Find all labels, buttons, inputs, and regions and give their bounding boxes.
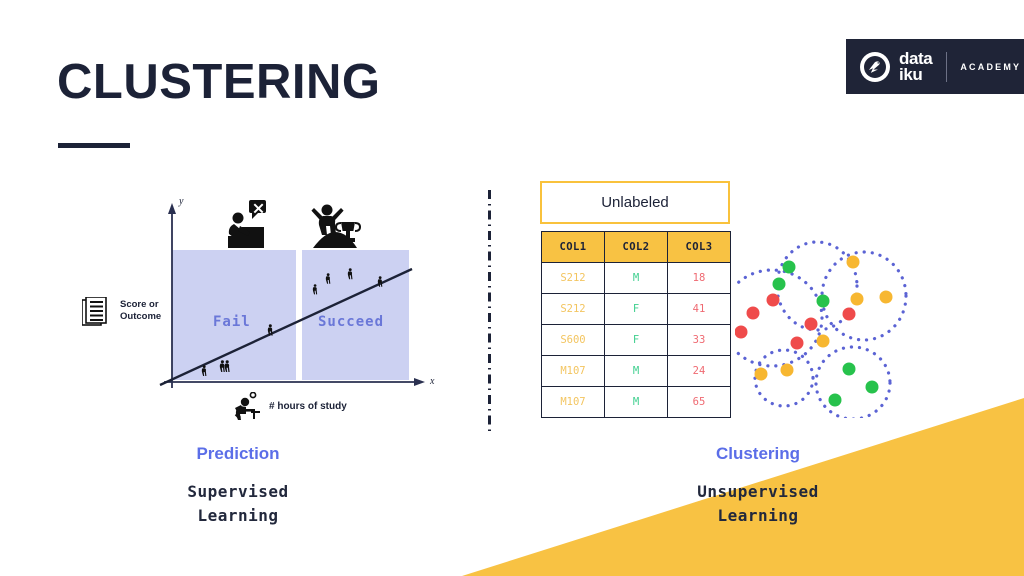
- logo-divider: [946, 52, 947, 82]
- hours-of-study-caption: # hours of study: [269, 401, 347, 412]
- column-header-col3: COL3: [668, 232, 731, 263]
- table-row: S212 M 18: [542, 263, 731, 294]
- cell-col1: M107: [542, 356, 605, 387]
- score-document-icon: [82, 297, 108, 332]
- discouraged-person-on-steps-icon: [228, 200, 266, 248]
- column-header-col2: COL2: [605, 232, 668, 263]
- cluster-point-green: [829, 394, 842, 407]
- cluster-point-green: [866, 381, 879, 394]
- table-header-row: COL1 COL2 COL3: [542, 232, 731, 263]
- cell-col2: M: [605, 387, 668, 418]
- cluster-outline: [816, 347, 890, 418]
- cell-col2: F: [605, 325, 668, 356]
- cell-col1: S212: [542, 294, 605, 325]
- x-axis-label: x: [430, 376, 434, 387]
- cell-col3: 24: [668, 356, 731, 387]
- cluster-point-yellow: [781, 364, 794, 377]
- cluster-point-red: [843, 308, 856, 321]
- unsupervised-line1: Unsupervised: [638, 480, 878, 504]
- cell-col3: 18: [668, 263, 731, 294]
- logo-academy-label: ACADEMY: [960, 62, 1021, 72]
- victorious-person-with-trophy-icon: [311, 205, 360, 249]
- unlabeled-data-table: COL1 COL2 COL3 S212 M 18 S212 F 41 S600 …: [541, 231, 731, 418]
- logo-brand-line2: iku: [899, 67, 932, 83]
- unlabeled-label: Unlabeled: [601, 194, 669, 211]
- cluster-point-red: [767, 294, 780, 307]
- cluster-point-green: [773, 278, 786, 291]
- supervised-line1: Supervised: [118, 480, 358, 504]
- cluster-point-yellow: [847, 256, 860, 269]
- title-underline-rule: [58, 143, 130, 148]
- supervised-learning-caption: Supervised Learning: [118, 480, 358, 528]
- score-caption-line2: Outcome: [120, 311, 161, 323]
- prediction-caption: Prediction: [138, 444, 338, 464]
- cell-col1: M107: [542, 387, 605, 418]
- cluster-point-red: [735, 326, 748, 339]
- cluster-point-red: [747, 307, 760, 320]
- cluster-point-red: [791, 337, 804, 350]
- cluster-point-green: [783, 261, 796, 274]
- section-divider: [488, 190, 491, 433]
- table-row: M107 M 24: [542, 356, 731, 387]
- unsupervised-line2: Learning: [638, 504, 878, 528]
- cluster-point-yellow: [880, 291, 893, 304]
- cell-col2: F: [605, 294, 668, 325]
- cluster-scatter-plot: [735, 228, 955, 413]
- cell-col1: S600: [542, 325, 605, 356]
- cell-col3: 41: [668, 294, 731, 325]
- dataiku-academy-logo: data iku ACADEMY: [846, 39, 1024, 94]
- slide-canvas: CLUSTERING data iku ACADEMY Fail Succeed: [0, 0, 1024, 576]
- studying-person-icon: [228, 392, 264, 425]
- dataiku-bird-icon: [860, 52, 890, 82]
- unlabeled-banner: Unlabeled: [540, 181, 730, 224]
- cluster-point-yellow: [755, 368, 768, 381]
- cell-col2: M: [605, 263, 668, 294]
- clustering-caption: Clustering: [658, 444, 858, 464]
- table-row: S212 F 41: [542, 294, 731, 325]
- cluster-point-yellow: [851, 293, 864, 306]
- cluster-point-yellow: [817, 335, 830, 348]
- score-caption-line1: Score or: [120, 299, 161, 311]
- unsupervised-learning-caption: Unsupervised Learning: [638, 480, 878, 528]
- cluster-point-green: [843, 363, 856, 376]
- y-axis-label: y: [179, 196, 183, 207]
- cell-col2: M: [605, 356, 668, 387]
- cell-col3: 65: [668, 387, 731, 418]
- student-datapoint-pictograms: [202, 268, 383, 376]
- table-row: M107 M 65: [542, 387, 731, 418]
- score-outcome-caption: Score or Outcome: [120, 299, 161, 323]
- cell-col1: S212: [542, 263, 605, 294]
- column-header-col1: COL1: [542, 232, 605, 263]
- cell-col3: 33: [668, 325, 731, 356]
- cluster-point-red: [805, 318, 818, 331]
- page-title: CLUSTERING: [57, 58, 381, 107]
- cluster-point-green: [817, 295, 830, 308]
- table-row: S600 F 33: [542, 325, 731, 356]
- supervised-line2: Learning: [118, 504, 358, 528]
